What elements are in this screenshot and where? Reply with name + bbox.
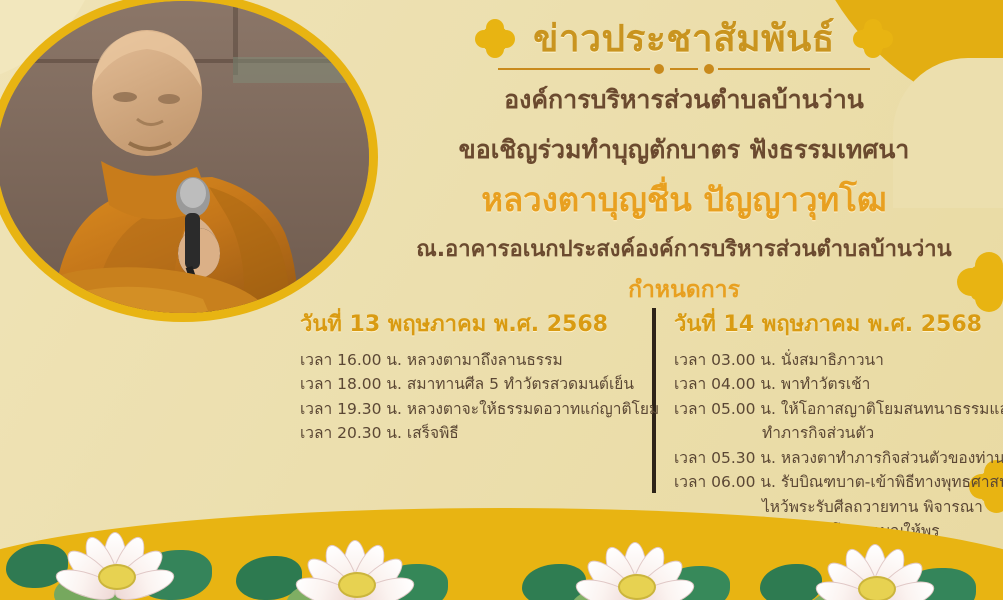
event-activity: เสร็จพิธี — [407, 424, 459, 442]
lotus-decoration-band — [0, 495, 1003, 600]
lotus-flower — [40, 510, 190, 600]
invitation-text: ขอเชิญร่วมทำบุญตักบาตร ฟังธรรมเทศนา — [368, 132, 1000, 168]
agenda-label: กำหนดการ — [368, 274, 1000, 307]
event-time: เวลา 20.30 น. — [300, 424, 402, 442]
venue-text: ณ.อาคารอเนกประสงค์องค์การบริหารส่วนตำบลบ… — [368, 234, 1000, 266]
event-activity: หลวงตามาถึงลานธรรม — [407, 351, 563, 369]
title-row: ข่าวประชาสัมพันธ์ — [368, 18, 1000, 59]
schedule-date-day2: วันที่ 14 พฤษภาคม พ.ศ. 2568 — [674, 306, 1003, 341]
quatrefoil-flower-icon-left — [475, 19, 515, 59]
schedule-date-day1: วันที่ 13 พฤษภาคม พ.ศ. 2568 — [300, 306, 652, 341]
event-time: เวลา 16.00 น. — [300, 351, 402, 369]
event-activity: รับบิณฑบาต-เข้าพิธีทางพุทธศาสนา — [781, 473, 1003, 491]
schedule-item: เวลา 03.00 น. นั่งสมาธิภาวนา — [674, 348, 1003, 372]
schedule-item: เวลา 19.30 น. หลวงตาจะให้ธรรมดอวาทแก่ญาต… — [300, 397, 652, 421]
event-activity: นั่งสมาธิภาวนา — [781, 351, 884, 369]
ornamental-divider — [498, 62, 870, 76]
header-block: ข่าวประชาสัมพันธ์ องค์การบริหารส่วนตำบลบ… — [368, 18, 1000, 307]
page-title: ข่าวประชาสัมพันธ์ — [533, 18, 835, 59]
event-activity: หลวงตาทำภารกิจส่วนตัวของท่าน — [781, 449, 1003, 467]
quatrefoil-flower-icon-right — [853, 19, 893, 59]
event-activity: ให้โอกาสญาติโยมสนทนาธรรมและ — [781, 400, 1003, 418]
event-time: เวลา 04.00 น. — [674, 375, 776, 393]
organization-name: องค์การบริหารส่วนตำบลบ้านว่าน — [368, 82, 1000, 118]
schedule-item: เวลา 16.00 น. หลวงตามาถึงลานธรรม — [300, 348, 652, 372]
event-time: เวลา 06.00 น. — [674, 473, 776, 491]
schedule-item: เวลา 20.30 น. เสร็จพิธี — [300, 421, 652, 445]
schedule-item: เวลา 18.00 น. สมาทานศีล 5 ทำวัตรสวดมนต์เ… — [300, 372, 652, 396]
event-activity: พาทำวัตรเช้า — [781, 375, 870, 393]
schedule-item: เวลา 04.00 น. พาทำวัตรเช้า — [674, 372, 1003, 396]
lotus-flower — [560, 520, 710, 600]
event-time: เวลา 03.00 น. — [674, 351, 776, 369]
poster-canvas: ข่าวประชาสัมพันธ์ องค์การบริหารส่วนตำบลบ… — [0, 0, 1003, 600]
event-time: เวลา 05.30 น. — [674, 449, 776, 467]
monk-name: หลวงตาบุญชื่น ปัญญาวุทโฒ — [368, 176, 1000, 224]
event-time: เวลา 18.00 น. — [300, 375, 402, 393]
schedule-item: เวลา 05.30 น. หลวงตาทำภารกิจส่วนตัวของท่… — [674, 446, 1003, 470]
event-activity-continued: ทำภารกิจส่วนตัว — [674, 421, 1003, 445]
monk-portrait-photo — [0, 1, 369, 313]
monk-portrait-frame — [0, 0, 378, 322]
lotus-flower — [280, 518, 430, 600]
event-time: เวลา 05.00 น. — [674, 400, 776, 418]
lotus-flower — [800, 522, 950, 600]
event-time: เวลา 19.30 น. — [300, 400, 402, 418]
schedule-item: เวลา 05.00 น. ให้โอกาสญาติโยมสนทนาธรรมแล… — [674, 397, 1003, 446]
event-activity: สมาทานศีล 5 ทำวัตรสวดมนต์เย็น — [407, 375, 634, 393]
portrait-gold-ring — [0, 0, 378, 322]
event-activity: หลวงตาจะให้ธรรมดอวาทแก่ญาติโยม — [407, 400, 659, 418]
